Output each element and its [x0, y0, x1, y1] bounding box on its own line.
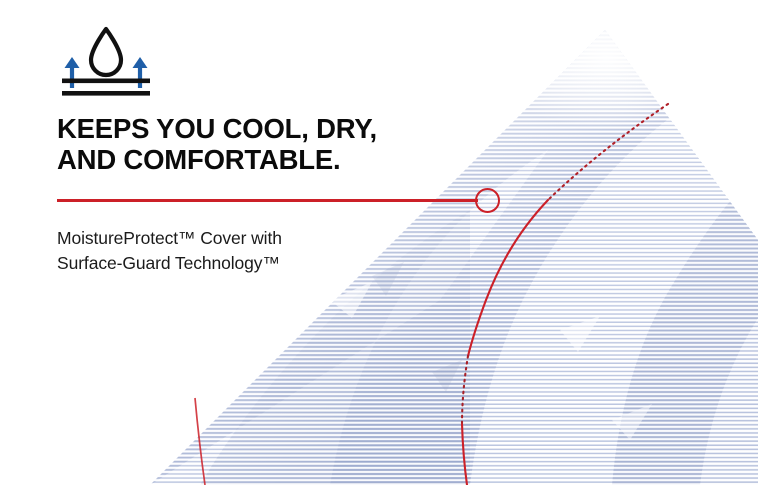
fabric-bar-top: [62, 79, 150, 84]
feature-description: MoistureProtect™ Cover with Surface-Guar…: [57, 226, 387, 276]
up-arrow-right: [133, 57, 148, 88]
droplet-shape: [91, 29, 121, 75]
fabric-bar-bottom: [62, 91, 150, 96]
callout-circle-marker: [475, 188, 500, 213]
moisture-wicking-icon: [58, 24, 154, 98]
up-arrow-left: [65, 57, 80, 88]
callout-leader-line: [57, 199, 478, 202]
product-feature-graphic: KEEPS YOU COOL, DRY, AND COMFORTABLE. Mo…: [0, 0, 758, 485]
page-title: KEEPS YOU COOL, DRY, AND COMFORTABLE.: [57, 113, 477, 175]
